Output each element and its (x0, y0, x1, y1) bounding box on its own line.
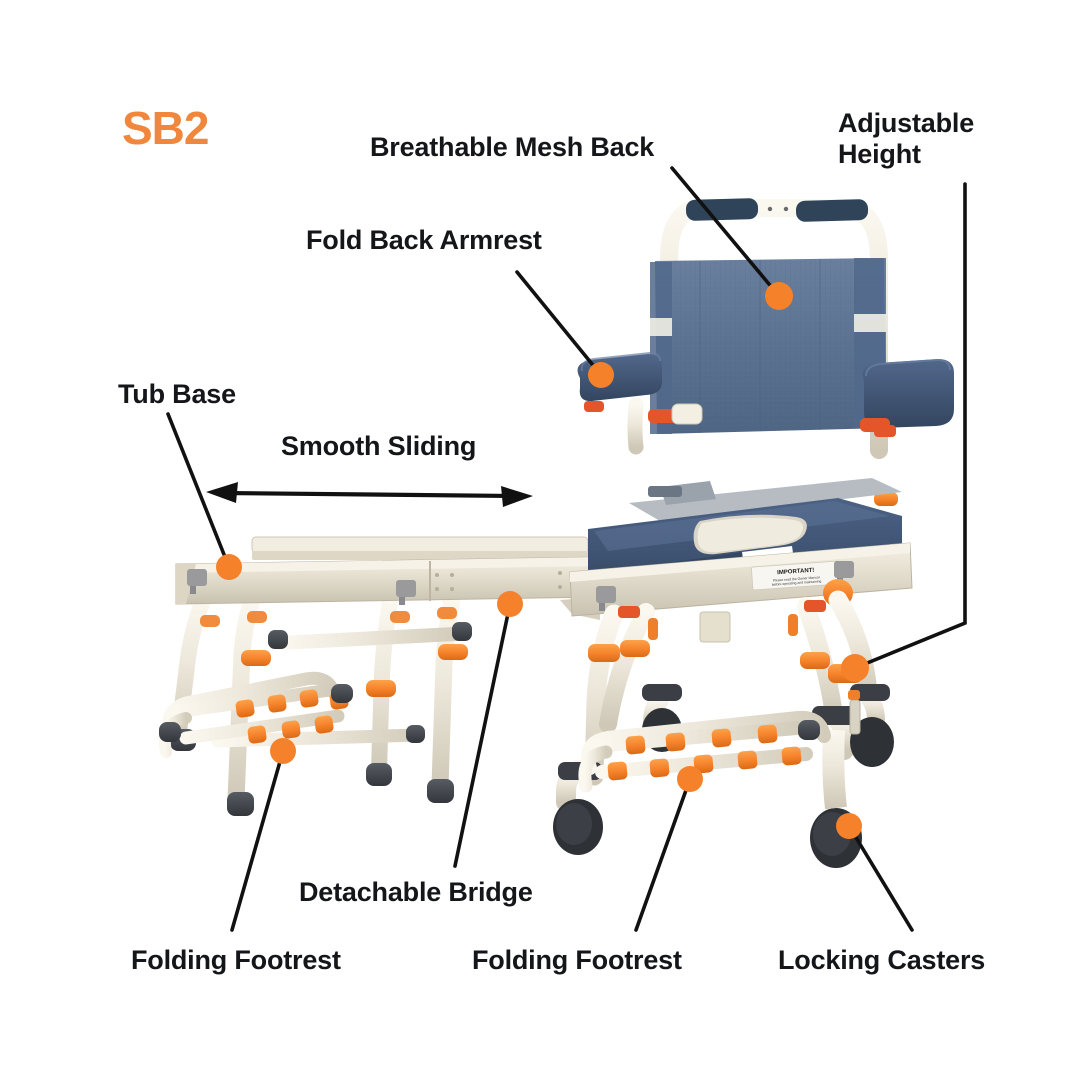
callout-label-tub-base: Tub Base (118, 380, 236, 409)
callout-label-folding-footrest-right: Folding Footrest (472, 946, 682, 975)
chair-frame: IMPORTANT! Please read the Owner Manual … (570, 198, 954, 642)
armrest-left (578, 353, 662, 447)
callout-label-detachable-bridge: Detachable Bridge (299, 878, 533, 907)
model-badge: SB2 (122, 101, 208, 155)
callout-label-adjustable-height: AdjustableHeight (838, 108, 974, 170)
callout-label-smooth-sliding: Smooth Sliding (281, 432, 476, 461)
folding-footrest-right (585, 718, 824, 786)
callout-label-folding-footrest-left: Folding Footrest (131, 946, 341, 975)
caster-rear-left (553, 762, 603, 855)
adjustable-height-line1: Adjustable (838, 108, 974, 138)
product-diagram: IMPORTANT! Please read the Owner Manual … (0, 0, 1080, 1080)
caster-rear-right (848, 684, 894, 767)
callout-label-breathable-mesh-back: Breathable Mesh Back (370, 133, 654, 162)
adjustable-height-line2: Height (838, 139, 921, 169)
callout-label-locking-casters: Locking Casters (778, 946, 985, 975)
callout-label-fold-back-armrest: Fold Back Armrest (306, 226, 542, 255)
